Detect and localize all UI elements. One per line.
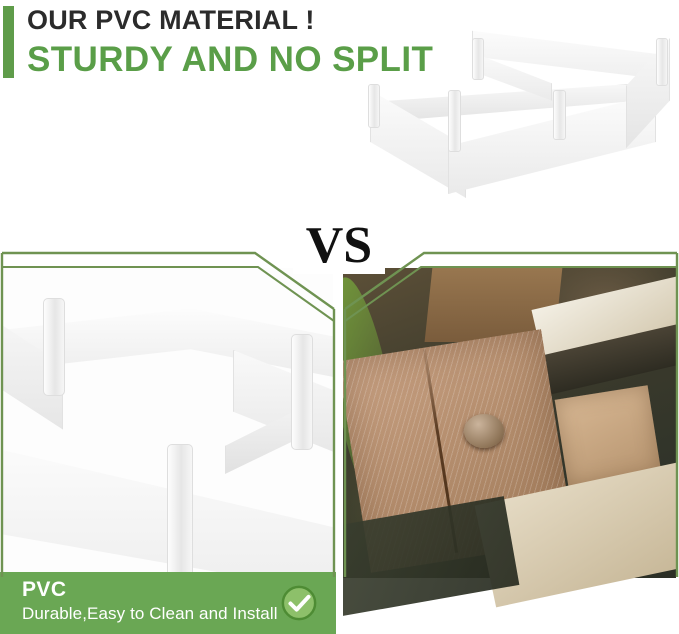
wood-product-photo [343,268,676,634]
header-banner: OUR PVC MATERIAL ! STURDY AND NO SPLIT [0,0,679,215]
vs-label: VS [293,218,385,274]
status-bar-pvc: PVC Durable,Easy to Clean and Install [0,572,336,634]
check-circle-icon [280,584,318,622]
hero-product-photo [360,18,672,208]
comparison-panel-wood: WOOD Fragile and Easily Broken [340,247,679,634]
page-title-primary: OUR PVC MATERIAL ! [27,4,315,36]
status-title-pvc: PVC [22,578,66,602]
status-subtitle-pvc: Durable,Easy to Clean and Install [22,604,278,624]
comparison-panel-pvc: PVC Durable,Easy to Clean and Install [0,247,336,634]
accent-bar [3,6,14,78]
